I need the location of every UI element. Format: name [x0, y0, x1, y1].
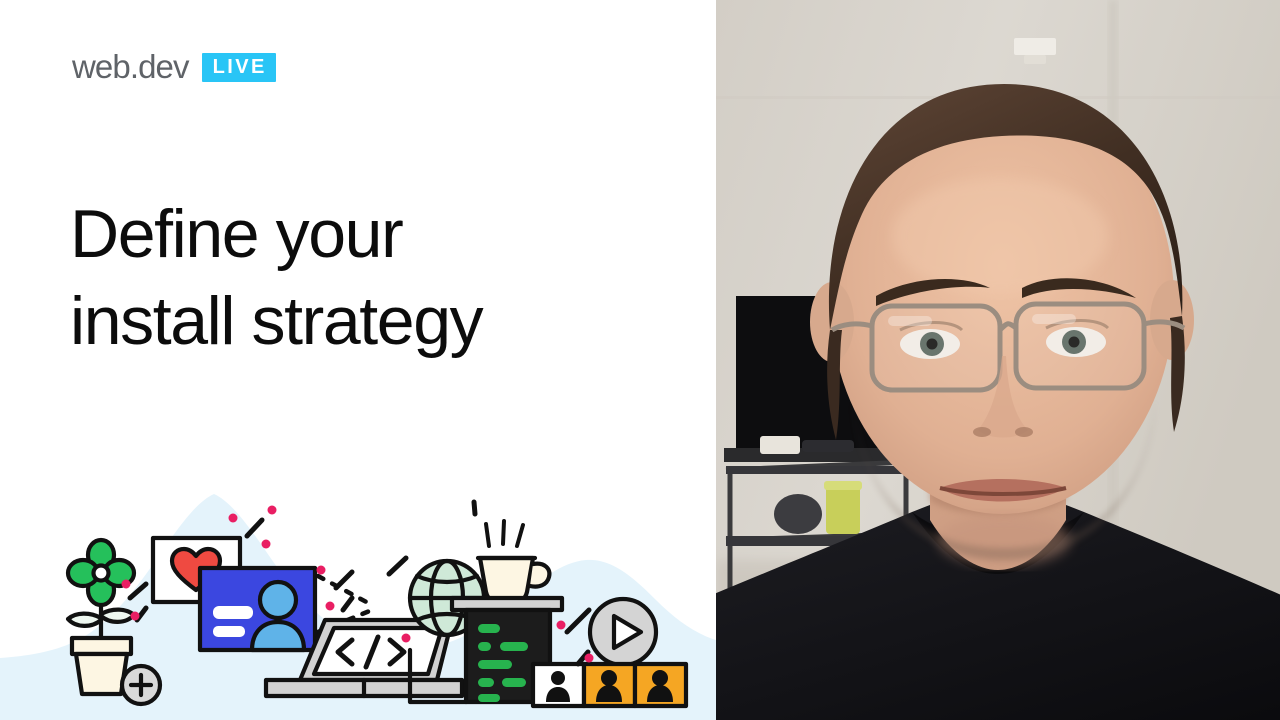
glasses-lens-glint-left — [888, 316, 932, 326]
brand-lockup: web.dev LIVE — [72, 50, 276, 83]
right-nostril — [1015, 427, 1033, 437]
webdev-wordmark: web.dev — [72, 50, 189, 83]
shelf-item-speaker — [774, 494, 822, 534]
slide-headline: Define your install strategy — [70, 191, 670, 365]
headline-line-2: install strategy — [70, 278, 670, 365]
shelf-item-jar-lid — [824, 481, 862, 490]
headline-line-1: Define your — [70, 191, 670, 278]
shelf-item-jar — [826, 486, 860, 534]
play-button-icon — [590, 599, 656, 665]
profile-video-card-icon — [200, 568, 315, 650]
shelf-surface-top — [726, 466, 912, 474]
left-nostril — [973, 427, 991, 437]
glasses-lens-glint-right — [1032, 314, 1076, 324]
hero-illustration — [0, 480, 716, 720]
coffee-cup-icon — [478, 521, 549, 606]
slide-with-webcam-composite: web.dev LIVE Define your install strateg… — [0, 0, 1280, 720]
shelf-item-dark-bar — [802, 440, 854, 452]
presentation-slide: web.dev LIVE Define your install strateg… — [0, 0, 716, 720]
potted-plant-icon — [68, 540, 160, 704]
live-badge: LIVE — [202, 53, 276, 82]
forehead-highlight — [892, 178, 1108, 294]
shelf-item-white-box — [760, 436, 800, 454]
presenter-webcam-feed — [716, 0, 1280, 720]
avatar-tiles-icon — [533, 664, 686, 706]
